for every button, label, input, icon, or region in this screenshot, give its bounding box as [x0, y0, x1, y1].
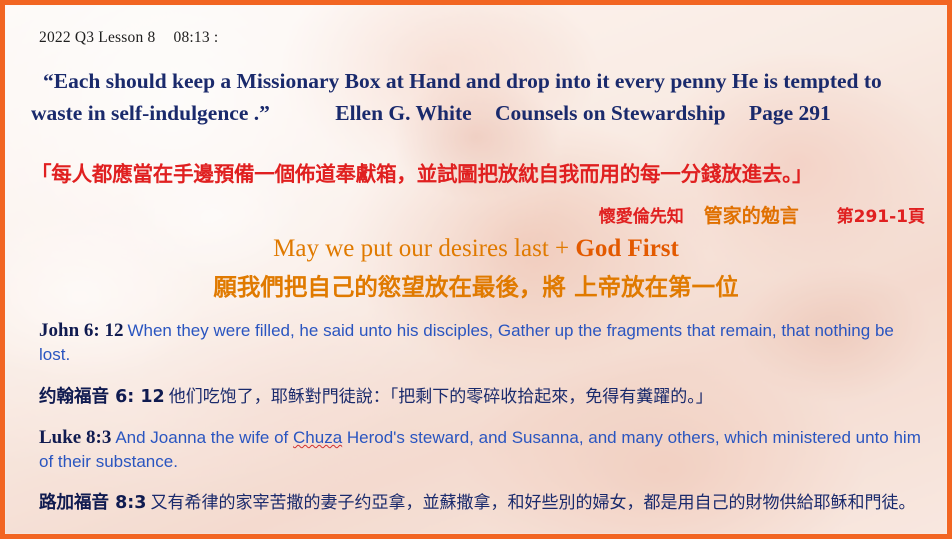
theme-line-chinese: 願我們把自己的慾望放在最後，將 上帝放在第一位	[5, 268, 947, 302]
verse-luke-8-3-chinese: 路加福音 8:3 又有希律的家宰苦撒的妻子约亞拿，並蘇撒拿，和好些別的婦女，都是…	[39, 489, 929, 516]
chinese-quote-book: 管家的勉言	[704, 205, 799, 227]
theme-english-emphasis: God First	[575, 235, 678, 262]
quote-author: Ellen G. White	[335, 101, 471, 125]
verse-text: 他们吃饱了，耶稣對門徒說：「把剩下的零碎收拾起來，免得有糞躍的。」	[169, 387, 713, 407]
slide-header: 2022 Q3 Lesson 8 08:13 :	[39, 29, 218, 47]
chinese-quote-reference: 懷愛倫先知 管家的勉言 第291-1頁	[599, 201, 925, 228]
english-quote-reference: Ellen G. White Counsels on Stewardship P…	[335, 97, 831, 129]
verse-john-6-12-english: John 6: 12 When they were filled, he sai…	[39, 319, 929, 367]
english-quote-block: “Each should keep a Missionary Box at Ha…	[31, 65, 931, 129]
chinese-quote-page: 第291-1頁	[837, 207, 925, 227]
verse-text: And Joanna the wife of Chuza Herod's ste…	[39, 428, 921, 471]
chinese-quote-author: 懷愛倫先知	[599, 207, 684, 227]
misspelled-word: Chuza	[293, 428, 342, 447]
verse-reference: 路加福音 8:3	[39, 493, 146, 513]
verse-reference: Luke 8:3	[39, 427, 111, 448]
verse-reference: 约翰福音 6: 12	[39, 387, 165, 407]
verse-text: When they were filled, he said unto his …	[39, 321, 894, 364]
verse-reference: John 6: 12	[39, 320, 123, 341]
verse-text-before: And Joanna the wife of	[115, 428, 293, 447]
theme-line-english: May we put our desires last + God First	[5, 235, 947, 263]
verse-text: 又有希律的家宰苦撒的妻子约亞拿，並蘇撒拿，和好些別的婦女，都是用自己的財物供給耶…	[150, 493, 915, 513]
verse-luke-8-3-english: Luke 8:3 And Joanna the wife of Chuza He…	[39, 426, 929, 474]
theme-english-part1: May we put our desires last +	[273, 235, 575, 262]
lesson-label: 2022 Q3 Lesson 8	[39, 29, 155, 46]
chinese-quote-text: 「每人都應當在手邊預備一個佈道奉獻箱，並試圖把放紞自我而用的每一分錢放進去。」	[31, 157, 936, 187]
verse-john-6-12-chinese: 约翰福音 6: 12 他们吃饱了，耶稣對門徒說：「把剩下的零碎收拾起來，免得有糞…	[39, 383, 929, 410]
quote-page: Page 291	[749, 101, 831, 125]
slide-canvas: 2022 Q3 Lesson 8 08:13 : “Each should ke…	[0, 0, 952, 539]
time-label: 08:13 :	[174, 29, 219, 46]
quote-source: Counsels on Stewardship	[495, 101, 726, 125]
